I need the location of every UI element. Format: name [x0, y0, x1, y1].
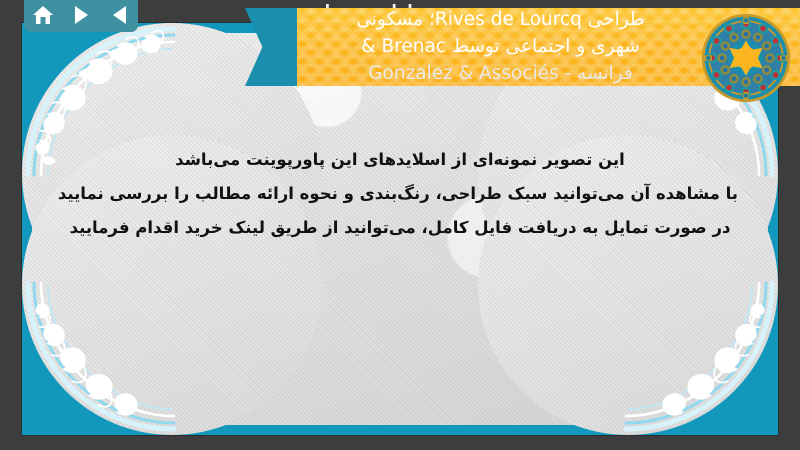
- banner-line-3: فرانسه - Gonzalez & Associés: [368, 60, 633, 87]
- body-line-1: این تصویر نمونه‌ای از اسلایدهای این پاور…: [62, 143, 738, 177]
- home-icon: [32, 5, 54, 25]
- home-button[interactable]: [30, 3, 56, 27]
- slide-body-text: این تصویر نمونه‌ای از اسلایدهای این پاور…: [62, 143, 738, 245]
- triangle-right-icon: [75, 6, 88, 24]
- banner-ribbon-tail: [245, 8, 303, 86]
- triangle-left-icon: [113, 6, 126, 24]
- persian-medallion-ornament: [700, 12, 792, 104]
- previous-slide-button[interactable]: [106, 3, 132, 27]
- body-line-3: در صورت تمایل به دریافت فایل کامل، می‌تو…: [62, 211, 738, 245]
- banner-line-2: شهری و اجتماعی توسط Brenac &: [361, 33, 640, 60]
- next-slide-button[interactable]: [68, 3, 94, 27]
- banner-title-text: طراحی Rives de Lourcq؛ مسکونی شهری و اجت…: [297, 4, 704, 88]
- body-line-2: با مشاهده آن می‌توانید سبک طراحی، رنگ‌بن…: [62, 177, 738, 211]
- banner-line-1: طراحی Rives de Lourcq؛ مسکونی: [356, 6, 644, 33]
- slide-viewer: بررسی طراحی معماری مجتمع: [0, 0, 800, 450]
- navigation-toolbar: [24, 0, 138, 32]
